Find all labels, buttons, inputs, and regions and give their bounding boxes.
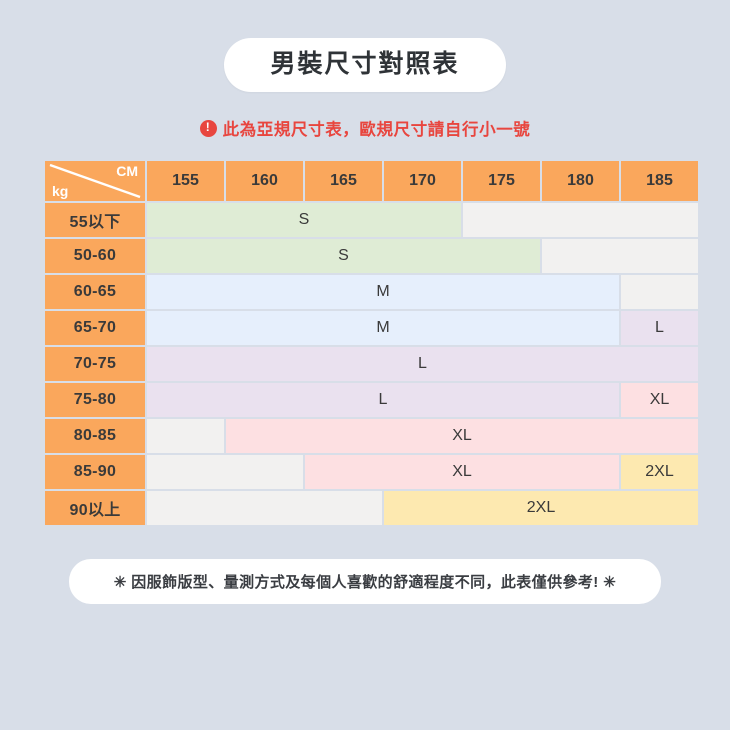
col-header-180: 180 bbox=[542, 161, 619, 201]
corner-cell: CM kg bbox=[45, 161, 145, 201]
size-cell-empty bbox=[542, 239, 698, 273]
table-row: 70-75L bbox=[45, 347, 698, 381]
size-cell-label: S bbox=[299, 211, 310, 228]
table-body: 55以下S50-60S60-65M65-70ML70-75L75-80LXL80… bbox=[45, 203, 698, 525]
row-header: 70-75 bbox=[45, 347, 145, 381]
row-header: 90以上 bbox=[45, 491, 145, 525]
size-cell-label: 2XL bbox=[527, 499, 555, 516]
size-cell: 2XL bbox=[384, 491, 698, 525]
size-cell-label: L bbox=[655, 319, 664, 336]
footer-pill: ✳ 因服飾版型、量測方式及每個人喜歡的舒適程度不同，此表僅供參考! ✳ bbox=[69, 559, 661, 604]
warning-text: 此為亞規尺寸表，歐規尺寸請自行小一號 bbox=[223, 116, 531, 140]
header-row: CM kg 155 160 165 170 175 180 185 bbox=[45, 161, 698, 201]
size-cell-empty bbox=[463, 203, 698, 237]
row-header: 55以下 bbox=[45, 203, 145, 237]
size-cell: L bbox=[621, 311, 698, 345]
warning-banner: ! 此為亞規尺寸表，歐規尺寸請自行小一號 bbox=[0, 116, 730, 140]
table-row: 60-65M bbox=[45, 275, 698, 309]
row-header: 75-80 bbox=[45, 383, 145, 417]
table-row: 75-80LXL bbox=[45, 383, 698, 417]
table-row: 90以上2XL bbox=[45, 491, 698, 525]
col-header-155: 155 bbox=[147, 161, 224, 201]
size-cell: XL bbox=[226, 419, 698, 453]
size-cell-label: L bbox=[418, 355, 427, 372]
col-header-165: 165 bbox=[305, 161, 382, 201]
row-header: 60-65 bbox=[45, 275, 145, 309]
size-cell: M bbox=[147, 275, 619, 309]
footer-note: ✳ 因服飾版型、量測方式及每個人喜歡的舒適程度不同，此表僅供參考! ✳ bbox=[95, 571, 635, 592]
row-header: 80-85 bbox=[45, 419, 145, 453]
size-cell: L bbox=[147, 383, 619, 417]
size-cell-label: L bbox=[379, 391, 388, 408]
corner-diagonal: CM kg bbox=[45, 161, 145, 201]
size-cell-empty bbox=[147, 419, 224, 453]
size-cell: L bbox=[147, 347, 698, 381]
size-cell: 2XL bbox=[621, 455, 698, 489]
row-header: 50-60 bbox=[45, 239, 145, 273]
footer-container: ✳ 因服飾版型、量測方式及每個人喜歡的舒適程度不同，此表僅供參考! ✳ bbox=[0, 559, 730, 604]
size-cell: M bbox=[147, 311, 619, 345]
size-cell: XL bbox=[305, 455, 619, 489]
size-cell-label: XL bbox=[452, 427, 472, 444]
size-cell-label: M bbox=[376, 319, 389, 336]
size-table-container: CM kg 155 160 165 170 175 180 185 55以下S5… bbox=[43, 159, 687, 527]
size-cell-empty bbox=[621, 275, 698, 309]
row-header: 85-90 bbox=[45, 455, 145, 489]
size-cell-empty bbox=[147, 491, 382, 525]
title-pill: 男裝尺寸對照表 bbox=[224, 38, 505, 92]
size-cell-label: S bbox=[338, 247, 349, 264]
col-header-185: 185 bbox=[621, 161, 698, 201]
table-row: 50-60S bbox=[45, 239, 698, 273]
size-cell: XL bbox=[621, 383, 698, 417]
title-container: 男裝尺寸對照表 bbox=[0, 0, 730, 92]
table-row: 65-70ML bbox=[45, 311, 698, 345]
corner-kg-label: kg bbox=[52, 184, 68, 198]
exclamation-circle-icon: ! bbox=[200, 120, 217, 137]
row-header: 65-70 bbox=[45, 311, 145, 345]
size-cell: S bbox=[147, 239, 540, 273]
table-head: CM kg 155 160 165 170 175 180 185 bbox=[45, 161, 698, 201]
size-table: CM kg 155 160 165 170 175 180 185 55以下S5… bbox=[43, 159, 700, 527]
col-header-175: 175 bbox=[463, 161, 540, 201]
size-cell-label: XL bbox=[650, 391, 670, 408]
table-row: 55以下S bbox=[45, 203, 698, 237]
page-title: 男裝尺寸對照表 bbox=[270, 49, 459, 79]
col-header-170: 170 bbox=[384, 161, 461, 201]
table-row: 85-90XL2XL bbox=[45, 455, 698, 489]
size-cell-empty bbox=[147, 455, 303, 489]
size-chart-page: 男裝尺寸對照表 ! 此為亞規尺寸表，歐規尺寸請自行小一號 bbox=[0, 0, 730, 730]
size-cell-label: M bbox=[376, 283, 389, 300]
size-cell-label: XL bbox=[452, 463, 472, 480]
size-cell-label: 2XL bbox=[645, 463, 673, 480]
table-row: 80-85XL bbox=[45, 419, 698, 453]
size-cell: S bbox=[147, 203, 461, 237]
corner-cm-label: CM bbox=[116, 164, 138, 178]
col-header-160: 160 bbox=[226, 161, 303, 201]
